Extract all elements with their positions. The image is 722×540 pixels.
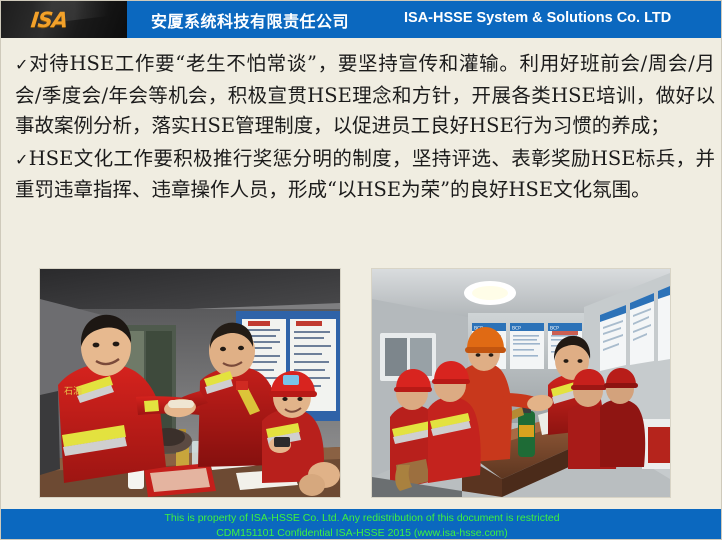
- photo-safety-meeting-graphic: BCP BCP BCP: [372, 269, 670, 497]
- svg-text:BCP: BCP: [512, 326, 521, 332]
- svg-text:石油: 石油: [64, 385, 82, 397]
- slide-body: ✓对待HSE工作要“老生不怕常谈”，要坚持宣传和灌输。利用好班前会/周会/月会/…: [15, 49, 715, 208]
- footer-copyright-line: This is property of ISA-HSSE Co. Ltd. An…: [1, 509, 722, 526]
- bullet-text: 对待HSE工作要“老生不怕常谈”，要坚持宣传和灌输。利用好班前会/周会/月会/季…: [15, 52, 715, 137]
- header-title-english: ISA-HSSE System & Solutions Co. LTD: [404, 10, 671, 26]
- footer-document-id-line: CDM151101 Confidential ISA-HSSE 2015 (ww…: [1, 526, 722, 540]
- checkmark-icon: ✓: [15, 55, 29, 74]
- photo-handshake-award-graphic: 石油: [40, 269, 340, 497]
- header-title-chinese: 安厦系统科技有限责任公司: [151, 8, 349, 32]
- photo-safety-meeting: BCP BCP BCP: [371, 268, 671, 498]
- slide-footer: This is property of ISA-HSSE Co. Ltd. An…: [1, 509, 722, 540]
- isa-logo: ISA: [30, 8, 69, 32]
- slide-canvas: ISA 安厦系统科技有限责任公司 ISA-HSSE System & Solut…: [0, 0, 722, 540]
- bullet-text: HSE文化工作要积极推行奖惩分明的制度，坚持评选、表彰奖励HSE标兵，并重罚违章…: [15, 147, 715, 202]
- bullet-item: ✓HSE文化工作要积极推行奖惩分明的制度，坚持评选、表彰奖励HSE标兵，并重罚违…: [15, 144, 715, 206]
- logo-plate: ISA: [1, 1, 127, 38]
- slide-header: ISA 安厦系统科技有限责任公司 ISA-HSSE System & Solut…: [1, 1, 722, 38]
- bullet-item: ✓对待HSE工作要“老生不怕常谈”，要坚持宣传和灌输。利用好班前会/周会/月会/…: [15, 49, 715, 142]
- checkmark-icon: ✓: [15, 150, 29, 169]
- photo-handshake-award: 石油: [39, 268, 341, 498]
- svg-text:BCP: BCP: [550, 326, 559, 332]
